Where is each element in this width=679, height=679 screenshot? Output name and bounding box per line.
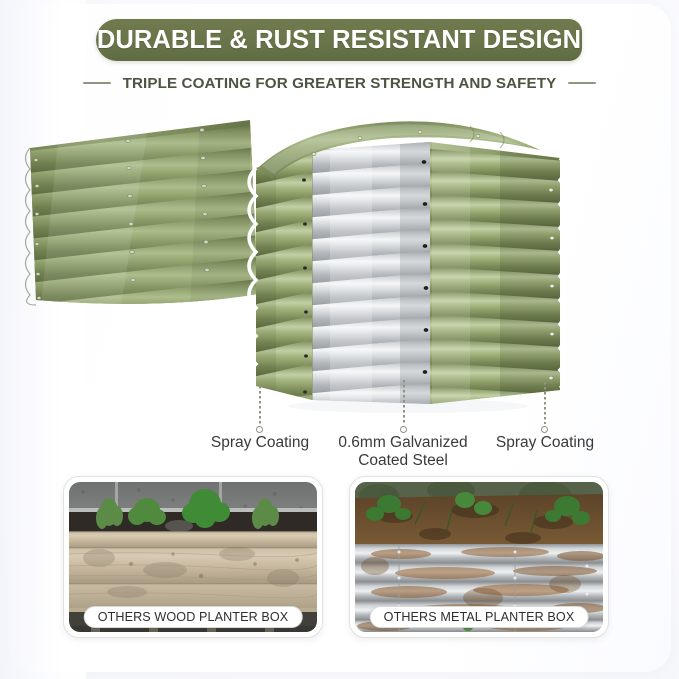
wood-planter-photo: OTHERS WOOD PLANTER BOX bbox=[69, 482, 317, 632]
leader-line bbox=[544, 382, 546, 424]
leader-dot bbox=[256, 426, 263, 433]
callout-leader-2 bbox=[403, 380, 405, 424]
galvanized-steel-core bbox=[304, 138, 438, 414]
callout-label-3: Spray Coating bbox=[465, 434, 625, 452]
wood-planter-caption: OTHERS WOOD PLANTER BOX bbox=[84, 606, 303, 628]
leader-dot bbox=[400, 426, 407, 433]
leader-line bbox=[403, 380, 405, 424]
comparison-card-metal: OTHERS METAL PLANTER BOX bbox=[349, 476, 609, 638]
left-corrugated-panel bbox=[20, 114, 268, 328]
leader-line bbox=[259, 386, 261, 424]
comparison-group: OTHERS WOOD PLANTER BOX bbox=[0, 476, 679, 646]
comparison-card-wood: OTHERS WOOD PLANTER BOX bbox=[63, 476, 323, 638]
cylinder-left-green-coating bbox=[248, 144, 320, 404]
callout-leader-3 bbox=[544, 382, 546, 424]
callout-group: Spray Coating 0.6mm Galvanized Coated St… bbox=[0, 396, 679, 470]
page-subtitle: TRIPLE COATING FOR GREATER STRENGTH AND … bbox=[123, 75, 557, 92]
subtitle-dash-left bbox=[83, 82, 111, 84]
metal-planter-photo: OTHERS METAL PLANTER BOX bbox=[355, 482, 603, 632]
page-title: DURABLE & RUST RESISTANT DESIGN bbox=[97, 26, 581, 55]
metal-planter-caption: OTHERS METAL PLANTER BOX bbox=[370, 606, 589, 628]
callout-label-1: Spray Coating bbox=[180, 434, 340, 452]
callout-leader-1 bbox=[259, 386, 261, 424]
callout-label-2: 0.6mm Galvanized Coated Steel bbox=[323, 434, 483, 470]
subtitle-row: TRIPLE COATING FOR GREATER STRENGTH AND … bbox=[0, 70, 679, 96]
subtitle-dash-right bbox=[568, 82, 596, 84]
callout-label-1-line1: Spray Coating bbox=[211, 434, 309, 451]
product-illustration bbox=[0, 104, 679, 414]
callout-label-2-line2: Coated Steel bbox=[358, 452, 448, 469]
callout-label-3-line1: Spray Coating bbox=[496, 434, 594, 451]
cylinder-right-green bbox=[420, 134, 575, 414]
title-banner: DURABLE & RUST RESISTANT DESIGN bbox=[96, 19, 582, 61]
callout-label-2-line1: 0.6mm Galvanized bbox=[338, 434, 467, 451]
leader-dot bbox=[541, 426, 548, 433]
infographic-root: DURABLE & RUST RESISTANT DESIGN TRIPLE C… bbox=[0, 0, 679, 679]
